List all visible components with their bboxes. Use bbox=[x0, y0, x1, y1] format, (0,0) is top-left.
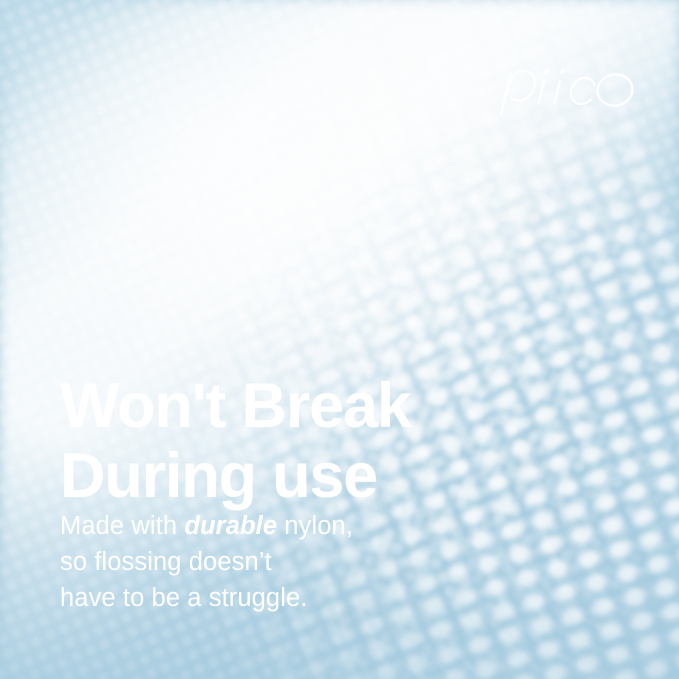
subcopy: Made with durable nylon, so flossing doe… bbox=[60, 508, 620, 616]
subcopy-line-3: have to be a struggle. bbox=[60, 580, 620, 616]
subcopy-line-2: so flossing doesn’t bbox=[60, 544, 620, 580]
subcopy-emphasis-durable: durable bbox=[184, 512, 277, 540]
subcopy-line-1: Made with durable nylon, bbox=[60, 508, 620, 544]
subcopy-line-1-prefix: Made with bbox=[60, 512, 184, 540]
subcopy-line-1-suffix: nylon, bbox=[277, 512, 353, 540]
headline: Won't Break During use bbox=[60, 372, 620, 511]
brand-logo-piico bbox=[487, 58, 637, 120]
product-feature-banner: Won't Break During use Made with durable… bbox=[0, 0, 679, 679]
